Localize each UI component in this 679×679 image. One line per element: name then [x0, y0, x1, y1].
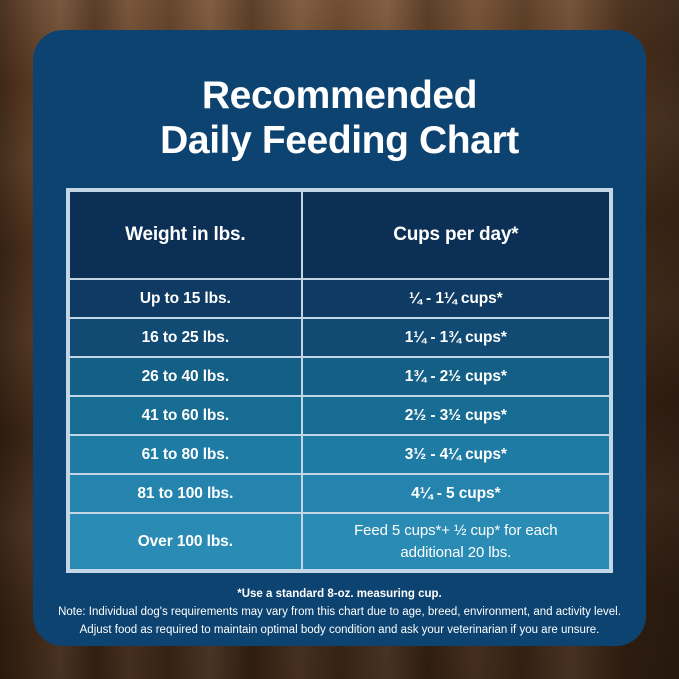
table-row: 61 to 80 lbs. 3½ - 4¼ cups*: [69, 435, 610, 474]
table-row: 26 to 40 lbs. 1¾ - 2½ cups*: [69, 357, 610, 396]
table-body: Up to 15 lbs. ¼ - 1¼ cups* 16 to 25 lbs.…: [69, 279, 610, 570]
footnotes: *Use a standard 8-oz. measuring cup. Not…: [33, 586, 646, 639]
table-row: Over 100 lbs. Feed 5 cups*+ ½ cup* for e…: [69, 513, 610, 570]
cell-weight: Over 100 lbs.: [69, 513, 302, 570]
column-header-weight: Weight in lbs.: [69, 191, 302, 279]
table-row: 41 to 60 lbs. 2½ - 3½ cups*: [69, 396, 610, 435]
page-title: Recommended Daily Feeding Chart: [33, 30, 646, 163]
cell-weight: 41 to 60 lbs.: [69, 396, 302, 435]
cell-cups: ¼ - 1¼ cups*: [302, 279, 610, 318]
feeding-table-container: Weight in lbs. Cups per day* Up to 15 lb…: [66, 188, 613, 573]
footnote-note: Note: Individual dog's requirements may …: [55, 604, 624, 622]
footnote-measuring-cup: *Use a standard 8-oz. measuring cup.: [55, 586, 624, 603]
table-row: 81 to 100 lbs. 4¼ - 5 cups*: [69, 474, 610, 513]
feeding-table: Weight in lbs. Cups per day* Up to 15 lb…: [68, 190, 611, 571]
table-row: 16 to 25 lbs. 1¼ - 1¾ cups*: [69, 318, 610, 357]
cell-weight: 16 to 25 lbs.: [69, 318, 302, 357]
cell-cups: 2½ - 3½ cups*: [302, 396, 610, 435]
cell-cups: 1¼ - 1¾ cups*: [302, 318, 610, 357]
cell-weight: 81 to 100 lbs.: [69, 474, 302, 513]
title-line-2: Daily Feeding Chart: [73, 118, 606, 163]
cell-weight: 61 to 80 lbs.: [69, 435, 302, 474]
table-row: Up to 15 lbs. ¼ - 1¼ cups*: [69, 279, 610, 318]
cell-weight: Up to 15 lbs.: [69, 279, 302, 318]
cell-cups: 1¾ - 2½ cups*: [302, 357, 610, 396]
feeding-chart-card: Recommended Daily Feeding Chart Weight i…: [33, 30, 646, 646]
column-header-cups: Cups per day*: [302, 191, 610, 279]
table-header-row: Weight in lbs. Cups per day*: [69, 191, 610, 279]
cell-cups: 3½ - 4¼ cups*: [302, 435, 610, 474]
footnote-adjust: Adjust food as required to maintain opti…: [55, 622, 624, 640]
cell-weight: 26 to 40 lbs.: [69, 357, 302, 396]
cell-cups: 4¼ - 5 cups*: [302, 474, 610, 513]
cell-cups: Feed 5 cups*+ ½ cup* for each additional…: [302, 513, 610, 570]
table-header: Weight in lbs. Cups per day*: [69, 191, 610, 279]
title-line-1: Recommended: [73, 73, 606, 118]
